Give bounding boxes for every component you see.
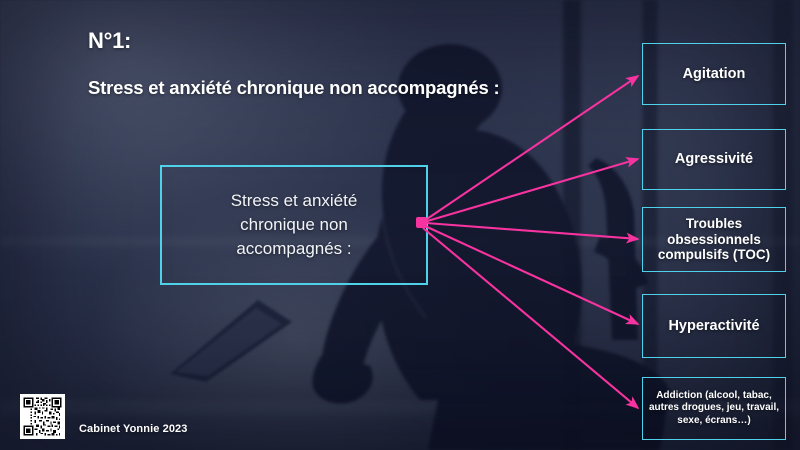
outcome-box-hyperactivite: Hyperactivité	[642, 294, 786, 358]
page-title: Stress et anxiété chronique non accompag…	[88, 77, 499, 99]
center-concept-box: Stress et anxiété chronique non accompag…	[160, 165, 428, 285]
outcome-label: Addiction (alcool, tabac, autres drogues…	[649, 390, 779, 428]
outcome-label: Troubles obsessionnels compulsifs (TOC)	[658, 216, 770, 263]
outcome-box-toc: Troubles obsessionnels compulsifs (TOC)	[642, 207, 786, 272]
qr-code	[20, 394, 65, 439]
outcome-box-addiction: Addiction (alcool, tabac, autres drogues…	[642, 377, 786, 440]
credit-label: Cabinet Yonnie 2023	[79, 423, 187, 435]
outcome-box-agressivite: Agressivité	[642, 129, 786, 190]
slide-canvas: N°1: Stress et anxiété chronique non acc…	[0, 0, 800, 450]
outcome-label: Agitation	[683, 66, 746, 83]
hub-node	[416, 217, 427, 228]
outcome-label: Agressivité	[675, 151, 753, 168]
outcome-label: Hyperactivité	[668, 318, 759, 335]
center-concept-label: Stress et anxiété chronique non accompag…	[231, 189, 358, 261]
outcome-box-agitation: Agitation	[642, 43, 786, 105]
slide-number-label: N°1:	[88, 28, 131, 54]
